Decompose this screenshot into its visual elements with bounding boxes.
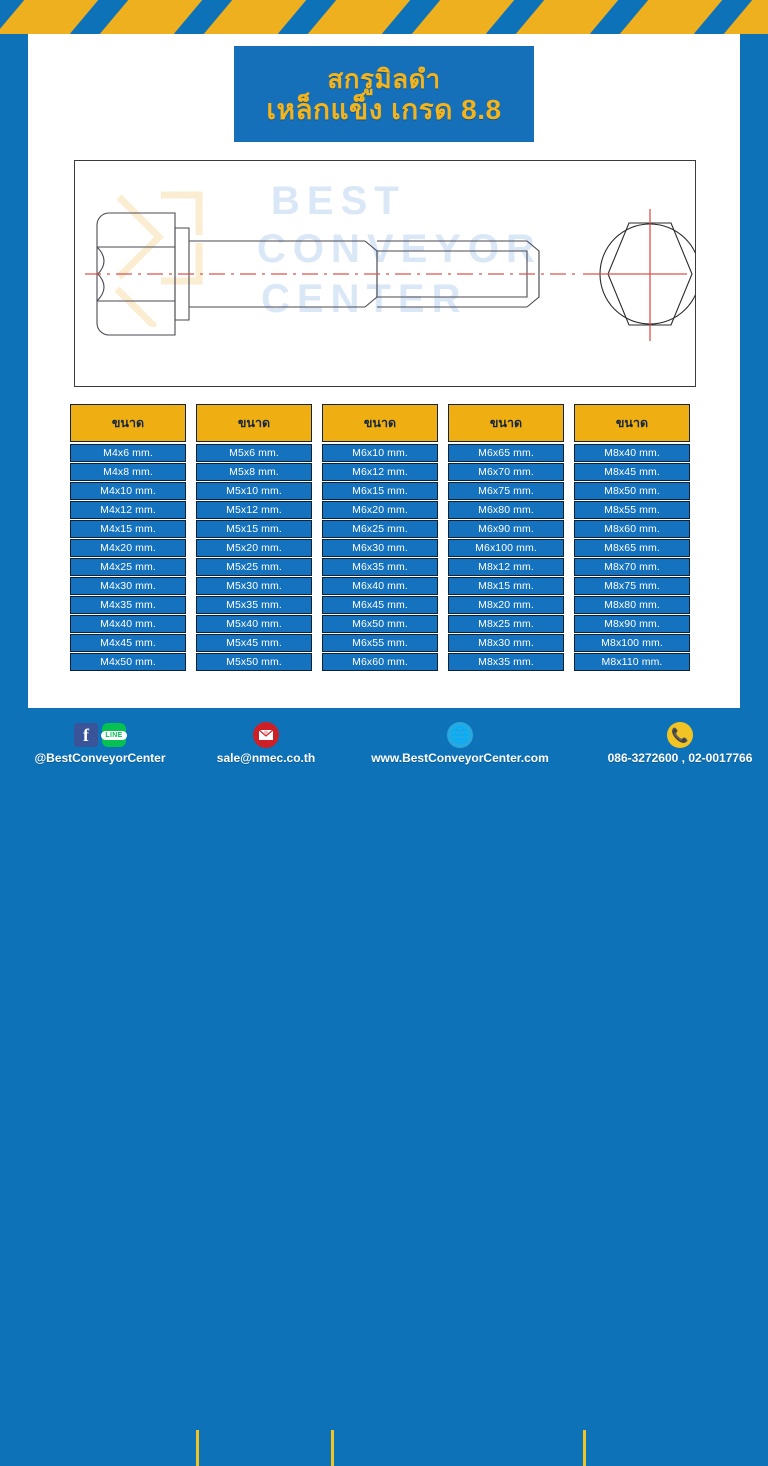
envelope-glyph — [258, 729, 274, 741]
table-row[interactable]: M5x40 mm. — [196, 615, 312, 633]
footer-phone[interactable]: 📞 086-3272600 , 02-0017766 — [592, 722, 768, 765]
chevron-stripe — [192, 0, 318, 34]
size-table-column-5: ขนาด M8x40 mm. M8x45 mm. M8x50 mm. M8x55… — [574, 404, 690, 684]
table-row[interactable]: M5x30 mm. — [196, 577, 312, 595]
chevron-stripe — [88, 0, 214, 34]
table-row[interactable]: M5x15 mm. — [196, 520, 312, 538]
table-row[interactable]: M5x8 mm. — [196, 463, 312, 481]
table-row[interactable]: M6x15 mm. — [322, 482, 438, 500]
table-row[interactable]: M6x75 mm. — [448, 482, 564, 500]
footer-social[interactable]: f LINE @BestConveyorCenter — [10, 722, 190, 765]
table-row[interactable]: M8x80 mm. — [574, 596, 690, 614]
column-header: ขนาด — [70, 404, 186, 442]
table-row[interactable]: M8x25 mm. — [448, 615, 564, 633]
table-row[interactable]: M8x70 mm. — [574, 558, 690, 576]
table-row[interactable]: M8x60 mm. — [574, 520, 690, 538]
table-row[interactable]: M6x90 mm. — [448, 520, 564, 538]
table-row[interactable]: M6x50 mm. — [322, 615, 438, 633]
technical-drawing-frame: BEST CONVEYOR CENTER — [74, 160, 696, 387]
table-row[interactable]: M6x25 mm. — [322, 520, 438, 538]
table-row[interactable]: M8x100 mm. — [574, 634, 690, 652]
size-table-column-3: ขนาด M6x10 mm. M6x12 mm. M6x15 mm. M6x20… — [322, 404, 438, 684]
table-row[interactable]: M8x45 mm. — [574, 463, 690, 481]
bolt-drawing — [75, 161, 695, 386]
table-row[interactable]: M8x65 mm. — [574, 539, 690, 557]
column-header: ขนาด — [448, 404, 564, 442]
table-row[interactable]: M6x12 mm. — [322, 463, 438, 481]
table-row[interactable]: M4x25 mm. — [70, 558, 186, 576]
table-row[interactable]: M6x35 mm. — [322, 558, 438, 576]
table-row[interactable]: M5x20 mm. — [196, 539, 312, 557]
footer-website[interactable]: 🌐 www.BestConveyorCenter.com — [342, 722, 578, 765]
chevron-stripe — [504, 0, 630, 34]
table-row[interactable]: M4x40 mm. — [70, 615, 186, 633]
table-row[interactable]: M5x6 mm. — [196, 444, 312, 462]
table-row[interactable]: M8x75 mm. — [574, 577, 690, 595]
size-table-column-4: ขนาด M6x65 mm. M6x70 mm. M6x75 mm. M6x80… — [448, 404, 564, 684]
table-row[interactable]: M8x15 mm. — [448, 577, 564, 595]
table-row[interactable]: M8x40 mm. — [574, 444, 690, 462]
title-line-1: สกรูมิลดำ — [327, 65, 440, 94]
facebook-icon[interactable]: f — [74, 723, 98, 747]
table-row[interactable]: M6x40 mm. — [322, 577, 438, 595]
chevron-stripe — [400, 0, 526, 34]
social-handle-label: @BestConveyorCenter — [34, 751, 165, 765]
email-label: sale@nmec.co.th — [217, 751, 315, 765]
size-table-column-2: ขนาด M5x6 mm. M5x8 mm. M5x10 mm. M5x12 m… — [196, 404, 312, 684]
table-row[interactable]: M4x20 mm. — [70, 539, 186, 557]
table-row[interactable]: M4x6 mm. — [70, 444, 186, 462]
table-row[interactable]: M6x45 mm. — [322, 596, 438, 614]
poster-page: สกรูมิลดำ เหล็กแข็ง เกรด 8.8 BEST CONVEY… — [0, 0, 768, 768]
footer-email[interactable]: sale@nmec.co.th — [206, 722, 326, 765]
table-row[interactable]: M8x30 mm. — [448, 634, 564, 652]
title-line-2: เหล็กแข็ง เกรด 8.8 — [266, 94, 501, 125]
table-row[interactable]: M6x65 mm. — [448, 444, 564, 462]
table-row[interactable]: M6x80 mm. — [448, 501, 564, 519]
table-row[interactable]: M6x10 mm. — [322, 444, 438, 462]
table-row[interactable]: M5x35 mm. — [196, 596, 312, 614]
table-row[interactable]: M8x35 mm. — [448, 653, 564, 671]
table-row[interactable]: M4x35 mm. — [70, 596, 186, 614]
table-row[interactable]: M4x30 mm. — [70, 577, 186, 595]
title-banner: สกรูมิลดำ เหล็กแข็ง เกรด 8.8 — [234, 46, 534, 142]
email-icon[interactable] — [253, 722, 279, 748]
column-header: ขนาด — [322, 404, 438, 442]
size-table-column-1: ขนาด M4x6 mm. M4x8 mm. M4x10 mm. M4x12 m… — [70, 404, 186, 684]
table-row[interactable]: M4x15 mm. — [70, 520, 186, 538]
footer-divider — [331, 1430, 334, 1466]
footer-divider — [583, 1430, 586, 1466]
table-row[interactable]: M4x10 mm. — [70, 482, 186, 500]
table-row[interactable]: M6x100 mm. — [448, 539, 564, 557]
table-row[interactable]: M8x110 mm. — [574, 653, 690, 671]
column-header: ขนาด — [196, 404, 312, 442]
table-row[interactable]: M5x12 mm. — [196, 501, 312, 519]
table-row[interactable]: M8x50 mm. — [574, 482, 690, 500]
table-row[interactable]: M8x12 mm. — [448, 558, 564, 576]
table-row[interactable]: M6x20 mm. — [322, 501, 438, 519]
table-row[interactable]: M6x30 mm. — [322, 539, 438, 557]
table-row[interactable]: M4x12 mm. — [70, 501, 186, 519]
top-chevron-band — [0, 0, 768, 34]
website-label: www.BestConveyorCenter.com — [371, 751, 549, 765]
chevron-stripe — [608, 0, 734, 34]
table-row[interactable]: M6x55 mm. — [322, 634, 438, 652]
table-row[interactable]: M8x20 mm. — [448, 596, 564, 614]
footer-contact-bar: f LINE @BestConveyorCenter sale@nmec.co.… — [0, 708, 768, 768]
table-row[interactable]: M4x45 mm. — [70, 634, 186, 652]
size-tables: ขนาด M4x6 mm. M4x8 mm. M4x10 mm. M4x12 m… — [70, 404, 690, 684]
chevron-stripe — [712, 0, 768, 34]
table-row[interactable]: M5x10 mm. — [196, 482, 312, 500]
phone-icon[interactable]: 📞 — [667, 722, 693, 748]
chevron-stripe — [296, 0, 422, 34]
chevron-stripe — [0, 0, 110, 34]
table-row[interactable]: M5x45 mm. — [196, 634, 312, 652]
table-row[interactable]: M8x55 mm. — [574, 501, 690, 519]
table-row[interactable]: M6x70 mm. — [448, 463, 564, 481]
table-row[interactable]: M8x90 mm. — [574, 615, 690, 633]
table-row[interactable]: M6x60 mm. — [322, 653, 438, 671]
table-row[interactable]: M4x50 mm. — [70, 653, 186, 671]
footer-divider — [196, 1430, 199, 1466]
phone-label: 086-3272600 , 02-0017766 — [608, 751, 753, 765]
table-row[interactable]: M4x8 mm. — [70, 463, 186, 481]
table-row[interactable]: M5x50 mm. — [196, 653, 312, 671]
globe-icon[interactable]: 🌐 — [447, 722, 473, 748]
table-row[interactable]: M5x25 mm. — [196, 558, 312, 576]
column-header: ขนาด — [574, 404, 690, 442]
line-icon[interactable]: LINE — [102, 723, 126, 747]
